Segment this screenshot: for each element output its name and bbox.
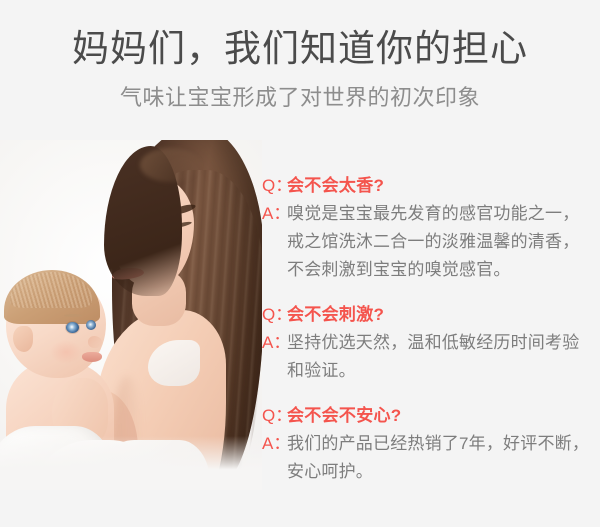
question-marker: Q： [262,301,287,329]
answer-text: 嗅觉是宝宝最先发育的感官功能之一，戒之馆洗沐二合一的淡雅温馨的清香，不会刺激到宝… [287,200,593,284]
question-row: Q： 会不会不安心? [262,402,598,430]
baby-nose [88,336,102,348]
question-row: Q： 会不会刺激? [262,301,598,329]
page-title: 妈妈们，我们知道你的担心 [0,0,600,72]
answer-row: A： 坚持优选天然，温和低敏经历时间考验和验证。 [262,329,598,385]
qa-list: Q： 会不会太香? A： 嗅觉是宝宝最先发育的感官功能之一，戒之馆洗沐二合一的淡… [262,172,598,486]
answer-text: 坚持优选天然，温和低敏经历时间考验和验证。 [287,329,593,385]
baby-lips [82,352,102,362]
question-text: 会不会太香? [287,172,384,200]
answer-marker: A： [262,329,287,357]
baby-eyebrow [64,314,82,317]
baby-eye [66,322,79,333]
qa-item: Q： 会不会不安心? A： 我们的产品已经热销了7年，好评不断，安心呵护。 [262,402,598,486]
answer-marker: A： [262,430,287,458]
question-text: 会不会不安心? [287,402,401,430]
photo-bottom-fade [0,436,262,490]
question-row: Q： 会不会太香? [262,172,598,200]
answer-marker: A： [262,200,287,228]
answer-row: A： 嗅觉是宝宝最先发育的感官功能之一，戒之馆洗沐二合一的淡雅温馨的清香，不会刺… [262,200,598,284]
page-subtitle: 气味让宝宝形成了对世界的初次印象 [0,72,600,113]
answer-row: A： 我们的产品已经热销了7年，好评不断，安心呵护。 [262,430,598,486]
answer-text: 我们的产品已经热销了7年，好评不断，安心呵护。 [287,430,593,486]
qa-item: Q： 会不会刺激? A： 坚持优选天然，温和低敏经历时间考验和验证。 [262,301,598,385]
baby-ear [13,326,33,352]
qa-item: Q： 会不会太香? A： 嗅觉是宝宝最先发育的感官功能之一，戒之馆洗沐二合一的淡… [262,172,598,284]
question-text: 会不会刺激? [287,301,384,329]
photo-illustration [0,140,262,490]
question-marker: Q： [262,402,287,430]
mother-hair-part [140,148,200,182]
page-header: 妈妈们，我们知道你的担心 气味让宝宝形成了对世界的初次印象 [0,0,600,113]
mother-and-baby-photo [0,140,262,490]
promo-page: 妈妈们，我们知道你的担心 气味让宝宝形成了对世界的初次印象 [0,0,600,527]
baby-cheek [50,340,82,364]
baby-eye-far [86,320,96,330]
question-marker: Q： [262,172,287,200]
